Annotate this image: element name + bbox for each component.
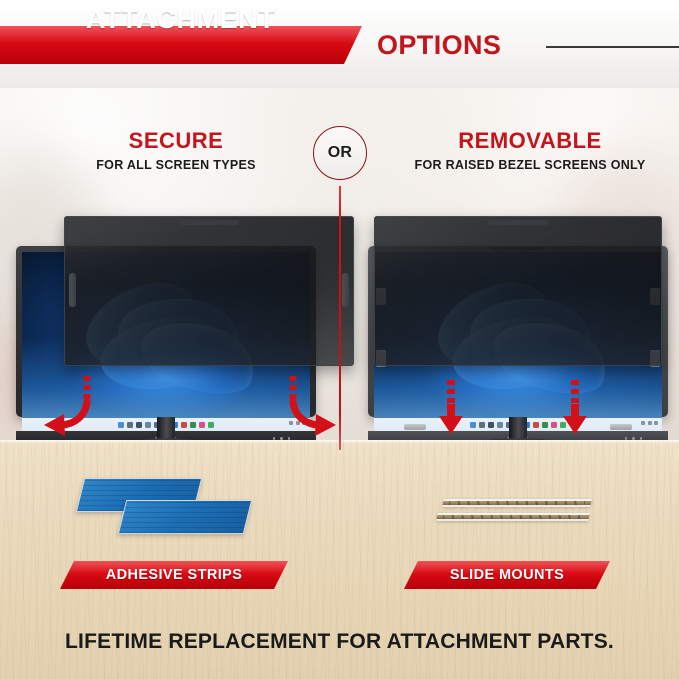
header-title-plain: OPTIONS	[377, 28, 501, 62]
section-title-secure: SECURE	[26, 128, 326, 154]
monitor-removable: SightPro	[368, 246, 668, 446]
footer-guarantee-text: LIFETIME REPLACEMENT FOR ATTACHMENT PART…	[0, 622, 679, 662]
section-title-removable: REMOVABLE	[380, 128, 679, 154]
slide-mount-rail	[442, 499, 592, 507]
taskbar-icon-start[interactable]	[470, 422, 476, 428]
slide-mount-rail	[436, 513, 590, 521]
infographic-page: ATTACHMENT OPTIONS SECURE FOR ALL SCREEN…	[0, 0, 679, 679]
filter-camera-cutout	[179, 220, 239, 225]
label-banner-text: SLIDE MOUNTS	[450, 567, 564, 583]
taskbar-icon-taskview[interactable]	[488, 422, 494, 428]
taskbar-icon-store[interactable]	[190, 422, 196, 428]
label-banner-slide-mounts: SLIDE MOUNTS	[404, 561, 610, 589]
slide-mount-tab	[404, 424, 426, 430]
taskbar-icon-widgets[interactable]	[145, 422, 151, 428]
filter-sheen	[375, 217, 661, 365]
tray-volume-icon[interactable]	[648, 421, 652, 425]
attachment-arrow-down-right	[561, 378, 589, 436]
header-title-highlight: ATTACHMENT	[86, 2, 275, 36]
filter-sheen	[65, 217, 353, 365]
taskbar-icon-search[interactable]	[127, 422, 133, 428]
taskbar-icon-office[interactable]	[533, 422, 539, 428]
label-banner-adhesive-strips: ADHESIVE STRIPS	[60, 561, 288, 589]
header-banner: ATTACHMENT OPTIONS	[0, 0, 679, 88]
or-badge: OR	[313, 126, 367, 180]
section-subtitle-removable: FOR RAISED BEZEL SCREENS ONLY	[365, 158, 679, 172]
taskbar-icon-taskview[interactable]	[136, 422, 142, 428]
slide-mount-tab	[610, 424, 632, 430]
adhesive-strip-sheet	[118, 500, 252, 534]
taskbar-icon-widgets[interactable]	[497, 422, 503, 428]
attachment-arrow-curved-right	[270, 372, 340, 434]
filter-camera-cutout	[488, 220, 548, 225]
filter-side-tab	[69, 273, 76, 307]
tray-clock[interactable]	[654, 421, 658, 425]
taskbar-icon-photos[interactable]	[199, 422, 205, 428]
vertical-divider	[339, 186, 341, 450]
system-tray[interactable]	[641, 421, 658, 425]
header-rule	[546, 46, 679, 48]
filter-side-tab	[342, 273, 349, 307]
taskbar-icon-app[interactable]	[208, 422, 214, 428]
section-subtitle-secure: FOR ALL SCREEN TYPES	[11, 158, 341, 172]
taskbar-icon-search[interactable]	[479, 422, 485, 428]
tray-network-icon[interactable]	[641, 421, 645, 425]
privacy-filter-panel[interactable]	[374, 216, 662, 366]
mount-texture	[443, 515, 584, 519]
taskbar-icon-store[interactable]	[542, 422, 548, 428]
privacy-filter-panel[interactable]	[64, 216, 354, 366]
attachment-arrow-curved-left	[40, 372, 110, 434]
mount-texture	[448, 501, 585, 505]
attachment-arrow-down-left	[437, 378, 465, 436]
taskbar-icon-office[interactable]	[181, 422, 187, 428]
label-banner-text: ADHESIVE STRIPS	[106, 567, 243, 583]
taskbar-icon-photos[interactable]	[551, 422, 557, 428]
taskbar-icon-start[interactable]	[118, 422, 124, 428]
